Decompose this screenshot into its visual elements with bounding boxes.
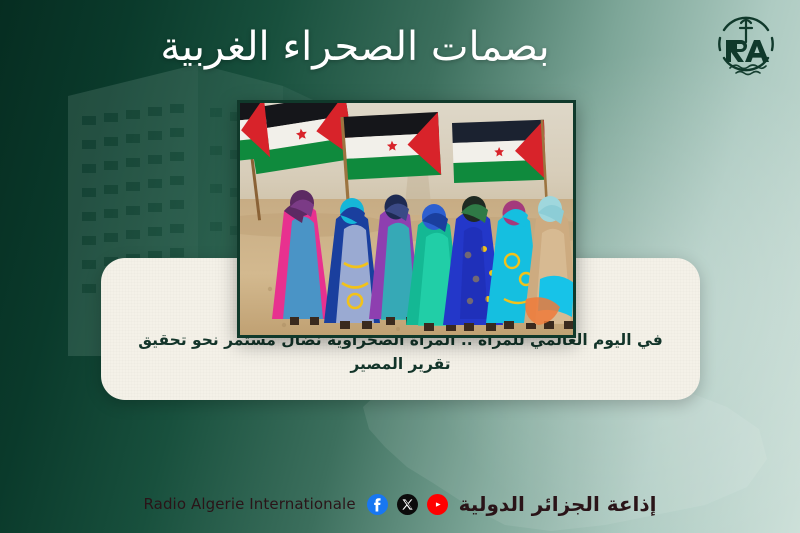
page-title: بصمات الصحراء الغربية <box>0 16 800 78</box>
footer-latin-label: Radio Algerie Internationale <box>143 495 355 513</box>
facebook-icon[interactable] <box>367 494 388 515</box>
social-media-poster: بصمات الصحراء الغربية <box>0 0 800 533</box>
x-icon[interactable] <box>397 494 418 515</box>
footer: Radio Algerie Internationale <box>0 487 800 521</box>
sahrawi-women-march-photo <box>237 100 576 338</box>
social-links <box>367 494 448 515</box>
radio-algerie-logo <box>710 8 782 80</box>
youtube-icon[interactable] <box>427 494 448 515</box>
footer-arabic-label: إذاعة الجزائر الدولية <box>459 490 657 518</box>
